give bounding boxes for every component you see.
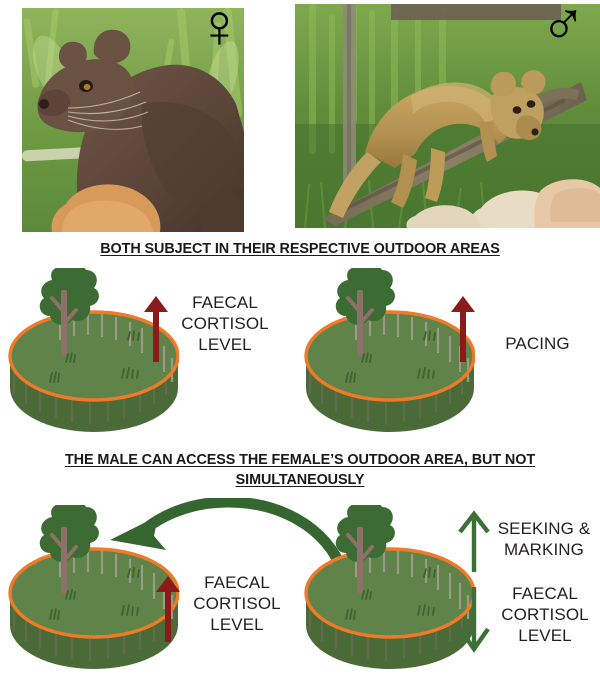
label-line-3: LEVEL	[495, 625, 595, 646]
label-line-2: CORTISOL	[178, 593, 296, 614]
label-line-1: FAECAL	[495, 583, 595, 604]
label-line-1: SEEKING &	[490, 518, 598, 539]
outdoor-enclosure-illustration	[300, 505, 475, 670]
section-heading-male-access: THE MALE CAN ACCESS THE FEMALE’S OUTDOOR…	[0, 450, 600, 490]
male-sex-symbol: ♂	[540, 0, 587, 56]
up-arrow-pacing	[450, 294, 476, 364]
label-line-2: MARKING	[490, 539, 598, 560]
section-heading-male-access-line-1: THE MALE CAN ACCESS THE FEMALE’S OUTDOOR…	[65, 452, 535, 468]
arrow-down-icon	[457, 583, 491, 655]
label-line-1: FAECAL	[165, 292, 285, 313]
label-pacing: PACING	[485, 333, 590, 354]
label-line-1: FAECAL	[178, 572, 296, 593]
label-line-1: PACING	[485, 333, 590, 354]
enclosure-bottom-right	[300, 505, 475, 670]
section-heading-both-outdoor-text: BOTH SUBJECT IN THEIR RESPECTIVE OUTDOOR…	[100, 241, 499, 257]
label-faecal-cortisol-bottom-left: FAECAL CORTISOL LEVEL	[178, 572, 296, 635]
section-heading-male-access-line-2: SIMULTANEOUSLY	[236, 472, 365, 488]
label-seeking-marking: SEEKING & MARKING	[490, 518, 598, 560]
label-faecal-cortisol-top-left: FAECAL CORTISOL LEVEL	[165, 292, 285, 355]
label-line-2: CORTISOL	[495, 604, 595, 625]
outdoor-enclosure-illustration	[4, 505, 179, 670]
label-line-2: CORTISOL	[165, 313, 285, 334]
label-faecal-cortisol-bottom-right: FAECAL CORTISOL LEVEL	[495, 583, 595, 646]
arrow-up-icon	[450, 294, 476, 364]
arrow-up-icon	[457, 508, 491, 574]
enclosure-top-right	[300, 268, 475, 433]
down-arrow-faecal-cortisol-bottom-right	[457, 583, 491, 655]
female-sex-symbol: ♀	[196, 0, 243, 58]
label-line-3: LEVEL	[165, 334, 285, 355]
figure-root: ♀	[0, 0, 600, 682]
outdoor-enclosure-illustration	[300, 268, 475, 433]
up-arrow-seeking-marking	[457, 508, 491, 574]
enclosure-bottom-left	[4, 505, 179, 670]
section-heading-both-outdoor: BOTH SUBJECT IN THEIR RESPECTIVE OUTDOOR…	[0, 241, 600, 257]
label-line-3: LEVEL	[178, 614, 296, 635]
